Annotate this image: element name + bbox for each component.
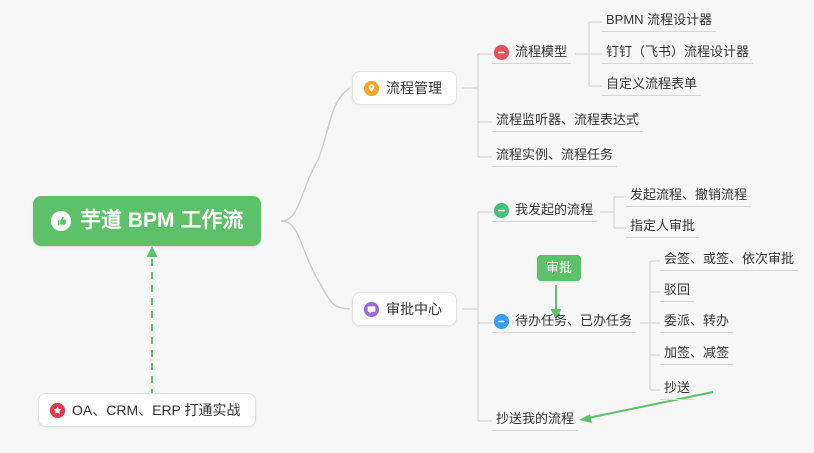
- node-label: 我发起的流程: [515, 201, 593, 219]
- callout-label: OA、CRM、ERP 打通实战: [72, 393, 241, 427]
- node-label: 待办任务、已办任务: [515, 312, 632, 330]
- node-start-cancel-process[interactable]: 发起流程、撤销流程: [626, 187, 751, 207]
- branch-approval-center[interactable]: 审批中心: [352, 292, 457, 326]
- node-label: 发起流程、撤销流程: [630, 186, 747, 204]
- node-assign-approver[interactable]: 指定人审批: [626, 218, 699, 238]
- node-todo-done-tasks[interactable]: 待办任务、已办任务: [492, 313, 636, 333]
- node-bpmn-designer[interactable]: BPMN 流程设计器: [602, 12, 716, 32]
- node-label: 抄送: [664, 379, 690, 397]
- node-label: BPMN 流程设计器: [606, 11, 712, 29]
- node-instance-task[interactable]: 流程实例、流程任务: [492, 147, 617, 167]
- node-label: 自定义流程表单: [606, 75, 697, 93]
- root-node[interactable]: 芋道 BPM 工作流: [33, 196, 261, 246]
- dashed-up-arrow: [147, 246, 158, 396]
- root-label: 芋道 BPM 工作流: [80, 196, 243, 246]
- minus-circle-icon: [494, 314, 509, 329]
- node-label: 指定人审批: [630, 217, 695, 235]
- node-label: 会签、或签、依次审批: [664, 250, 794, 268]
- node-process-model[interactable]: 流程模型: [492, 44, 571, 64]
- node-dingtalk-designer[interactable]: 钉钉（飞书）流程设计器: [602, 44, 753, 64]
- node-label: 流程实例、流程任务: [496, 146, 613, 164]
- node-delegate-transfer[interactable]: 委派、转办: [660, 313, 733, 333]
- node-label: 委派、转办: [664, 312, 729, 330]
- node-cc-to-me[interactable]: 抄送我的流程: [492, 411, 578, 431]
- location-pin-icon: [364, 81, 379, 96]
- node-reject[interactable]: 驳回: [660, 282, 694, 302]
- minus-circle-icon: [494, 203, 509, 218]
- callout-label: 审批: [546, 260, 572, 275]
- node-add-remove-sign[interactable]: 加签、减签: [660, 345, 733, 365]
- callout-oa-crm-erp[interactable]: OA、CRM、ERP 打通实战: [38, 393, 256, 427]
- branch-process-management[interactable]: 流程管理: [352, 71, 457, 105]
- node-cc[interactable]: 抄送: [660, 380, 694, 400]
- node-label: 抄送我的流程: [496, 410, 574, 428]
- star-icon: [50, 403, 65, 418]
- node-label: 流程模型: [515, 43, 567, 61]
- mindmap-canvas: 芋道 BPM 工作流 流程管理 流程模型 BPMN 流程设计器 钉钉（飞书）流程…: [0, 0, 814, 453]
- minus-circle-icon: [494, 45, 509, 60]
- node-my-started-process[interactable]: 我发起的流程: [492, 202, 597, 222]
- branch-label: 流程管理: [386, 71, 442, 105]
- node-label: 钉钉（飞书）流程设计器: [606, 43, 749, 61]
- message-circle-icon: [364, 302, 379, 317]
- node-countersign[interactable]: 会签、或签、依次审批: [660, 251, 798, 271]
- node-label: 驳回: [664, 281, 690, 299]
- node-listener-expression[interactable]: 流程监听器、流程表达式: [492, 112, 643, 132]
- callout-approve[interactable]: 审批: [537, 255, 581, 281]
- node-label: 流程监听器、流程表达式: [496, 111, 639, 129]
- branch-label: 审批中心: [386, 292, 442, 326]
- thumbs-up-icon: [51, 211, 71, 231]
- node-custom-form[interactable]: 自定义流程表单: [602, 76, 701, 96]
- node-label: 加签、减签: [664, 344, 729, 362]
